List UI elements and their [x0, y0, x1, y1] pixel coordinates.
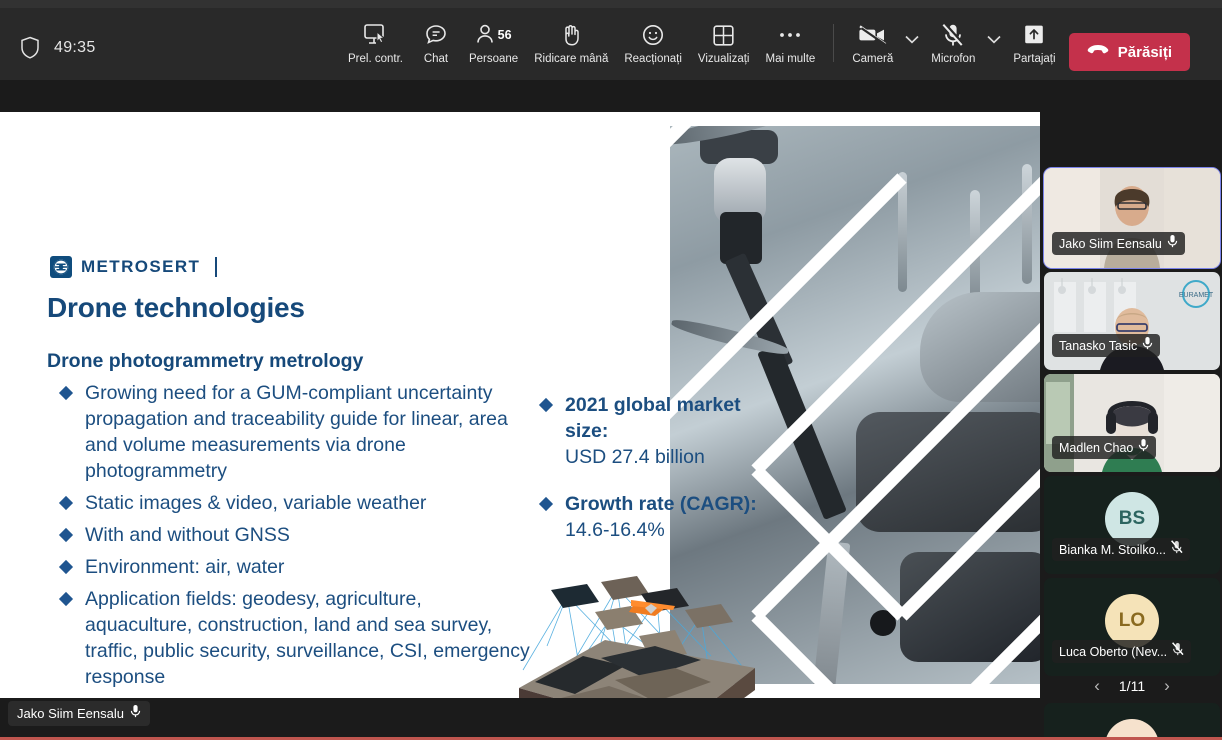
participant-name: Madlen Chao: [1059, 441, 1133, 455]
toolbar-raise-hand-button[interactable]: Ridicare mână: [526, 18, 616, 69]
share-screen-icon: [362, 22, 388, 48]
participant-tile[interactable]: BS Bianka M. Stoilko...: [1044, 476, 1220, 574]
participant-name: Jako Siim Eensalu: [1059, 237, 1162, 251]
toolbar-item-label: Chat: [424, 53, 448, 65]
participant-nameplate: Bianka M. Stoilko...: [1052, 538, 1190, 561]
participant-nameplate: Tanasko Tasic: [1052, 334, 1160, 357]
toolbar-share-button[interactable]: Partajați: [1005, 18, 1063, 69]
diamond-bullet-icon: [539, 497, 553, 511]
rail-page-indicator: 1/11: [1119, 678, 1145, 694]
camera-chevron-down-icon[interactable]: [901, 14, 923, 64]
list-item: 2021 global market size: USD 27.4 billio…: [532, 392, 782, 470]
leave-call-button[interactable]: Părăsiți: [1069, 33, 1190, 71]
slide-bullet-list-left: Growing need for a GUM-compliant uncerta…: [52, 380, 532, 696]
toolbar-more-button[interactable]: Mai multe: [757, 18, 823, 69]
list-item: Static images & video, variable weather: [52, 490, 532, 516]
diamond-bullet-icon: [539, 398, 553, 412]
list-item-text: Static images & video, variable weather: [85, 492, 426, 514]
microphone-group: Microfon: [923, 18, 1005, 69]
list-item-text: With and without GNSS: [85, 524, 290, 546]
slide-title: Drone technologies: [47, 292, 305, 324]
toolbar-item-label: Cameră: [852, 53, 893, 65]
diamond-bullet-icon: [59, 386, 73, 400]
list-item-text: Application fields: geodesy, agriculture…: [85, 588, 530, 688]
meeting-status-group: 49:35: [20, 36, 96, 59]
chevron-right-icon[interactable]: ›: [1161, 676, 1173, 696]
diamond-bullet-icon: [59, 560, 73, 574]
hangup-icon: [1087, 43, 1109, 62]
participant-nameplate: Luca Oberto (Nev...: [1052, 640, 1191, 663]
meeting-timer: 49:35: [54, 39, 96, 57]
list-item: Application fields: geodesy, agriculture…: [52, 586, 532, 690]
more-icon: [777, 22, 803, 48]
toolbar-item-label: Microfon: [931, 53, 975, 65]
toolbar-item-label: Vizualizați: [698, 53, 750, 65]
shared-slide[interactable]: METROSERT Drone technologies Drone photo…: [0, 112, 1040, 698]
shield-icon: [20, 36, 40, 59]
metrosert-logo-icon: [50, 256, 72, 278]
participant-tile[interactable]: Jako Siim Eensalu: [1044, 168, 1220, 268]
participant-nameplate: Jako Siim Eensalu: [1052, 232, 1185, 255]
mic-off-icon: [942, 22, 964, 48]
microphone-chevron-down-icon[interactable]: [983, 14, 1005, 64]
participant-name: Bianka M. Stoilko...: [1059, 543, 1166, 557]
reactions-icon: [641, 22, 665, 48]
list-item: Environment: air, water: [52, 554, 532, 580]
meeting-toolbar: 49:35 Prel. contr.: [0, 8, 1222, 80]
toolbar-microphone-button[interactable]: Microfon: [923, 18, 983, 69]
mic-off-icon: [1171, 540, 1183, 559]
meeting-window: 49:35 Prel. contr.: [0, 0, 1222, 740]
participant-tile[interactable]: LO Luca Oberto (Nev...: [1044, 578, 1220, 676]
svg-text:EURAMET: EURAMET: [1179, 292, 1214, 299]
view-grid-icon: [712, 22, 735, 48]
participant-tile[interactable]: I INM_MD: [1044, 703, 1220, 740]
stat-heading: 2021 global market size:: [565, 392, 782, 444]
stat-heading: Growth rate (CAGR):: [565, 491, 782, 517]
share-up-icon: [1023, 22, 1045, 48]
leave-call-label: Părăsiți: [1118, 44, 1172, 61]
participant-nameplate: Madlen Chao: [1052, 436, 1156, 459]
window-top-strip: [0, 0, 1222, 8]
photogrammetry-map-image: [505, 560, 775, 698]
stat-value: 14.6-16.4%: [565, 517, 782, 543]
participant-tile[interactable]: EURAMET Tanasko Tasic: [1044, 272, 1220, 370]
mic-on-icon: [1142, 336, 1153, 355]
brand-logo: METROSERT: [50, 256, 217, 278]
raise-hand-icon: [560, 22, 582, 48]
toolbar-reactions-button[interactable]: Reacționați: [616, 18, 690, 69]
list-item-text: Environment: air, water: [85, 556, 284, 578]
list-item: Growing need for a GUM-compliant uncerta…: [52, 380, 532, 484]
stat-value: USD 27.4 billion: [565, 444, 782, 470]
chevron-left-icon[interactable]: ‹: [1091, 676, 1103, 696]
toolbar-people-button[interactable]: 56 Persoane: [461, 18, 526, 69]
slide-subtitle: Drone photogrammetry metrology: [47, 350, 363, 373]
camera-group: Cameră: [844, 18, 923, 69]
diamond-bullet-icon: [59, 592, 73, 606]
toolbar-divider: [833, 24, 834, 62]
mic-off-icon: [1172, 642, 1184, 661]
toolbar-chat-button[interactable]: Chat: [411, 18, 461, 69]
participant-tile[interactable]: Madlen Chao: [1044, 374, 1220, 472]
brand-name: METROSERT: [81, 257, 200, 277]
toolbar-item-label: Prel. contr.: [348, 53, 403, 65]
chat-icon: [424, 22, 448, 48]
mic-on-icon: [1167, 234, 1178, 253]
participant-name: Tanasko Tasic: [1059, 339, 1137, 353]
diamond-bullet-icon: [59, 528, 73, 542]
meeting-stage: METROSERT Drone technologies Drone photo…: [0, 80, 1222, 740]
diamond-bullet-icon: [59, 496, 73, 510]
toolbar-item-label: Reacționați: [624, 53, 682, 65]
toolbar-item-label: Mai multe: [765, 53, 815, 65]
slide-bullet-list-right: 2021 global market size: USD 27.4 billio…: [532, 392, 782, 564]
list-item: With and without GNSS: [52, 522, 532, 548]
toolbar-actions: Prel. contr. Chat 56: [340, 18, 1064, 69]
toolbar-camera-button[interactable]: Cameră: [844, 18, 901, 69]
participant-rail: Jako Siim Eensalu EURAMET: [1044, 168, 1220, 740]
list-item-text: Growing need for a GUM-compliant uncerta…: [85, 382, 508, 482]
mic-on-icon: [130, 704, 141, 723]
toolbar-view-button[interactable]: Vizualizați: [690, 18, 758, 69]
people-icon: 56: [476, 22, 512, 48]
self-name-banner: Jako Siim Eensalu: [8, 701, 150, 726]
brand-divider: [215, 257, 217, 277]
self-name: Jako Siim Eensalu: [17, 706, 124, 721]
toolbar-item-label: Partajați: [1013, 53, 1055, 65]
participant-name: Luca Oberto (Nev...: [1059, 645, 1167, 659]
people-count-badge: 56: [498, 28, 512, 42]
rail-pager: ‹ 1/11 ›: [1044, 671, 1220, 701]
avatar-initials: LO: [1119, 610, 1145, 632]
toolbar-item-label: Persoane: [469, 53, 518, 65]
camera-off-icon: [858, 22, 888, 48]
toolbar-share-control-button[interactable]: Prel. contr.: [340, 18, 411, 69]
mic-on-icon: [1138, 438, 1149, 457]
toolbar-item-label: Ridicare mână: [534, 53, 608, 65]
list-item: Growth rate (CAGR): 14.6-16.4%: [532, 491, 782, 543]
avatar-initials: BS: [1119, 508, 1145, 530]
